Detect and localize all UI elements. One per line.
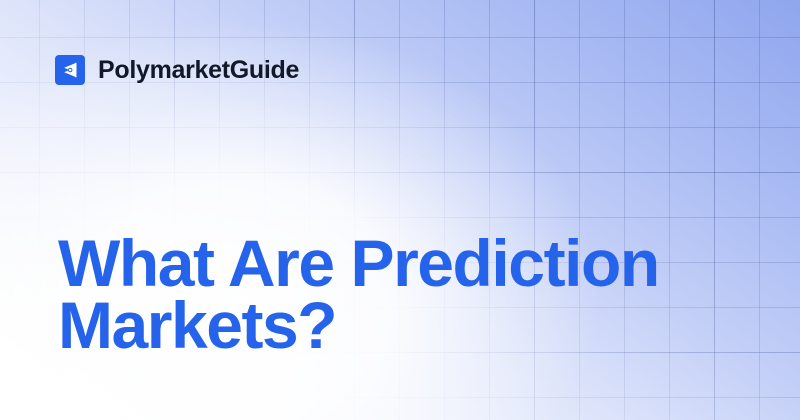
brand-name: PolymarketGuide [98,58,299,83]
hero-banner: PolymarketGuide What Are Prediction Mark… [0,0,800,420]
page-title: What Are Prediction Markets? [58,232,748,356]
brand-lockup[interactable]: PolymarketGuide [55,55,299,85]
page-title-line-2: Markets? [58,294,748,356]
page-title-line-1: What Are Prediction [58,232,748,294]
flag-banner-icon [55,55,85,85]
